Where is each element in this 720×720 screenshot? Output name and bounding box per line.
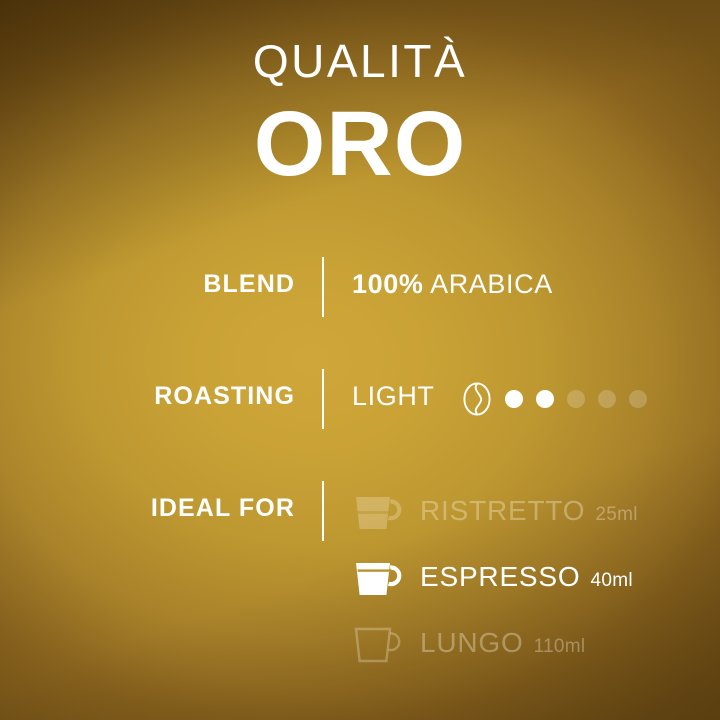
coffee-bean-icon [462, 382, 492, 416]
ideal-for-text-ristretto: RISTRETTO 25ml [420, 495, 638, 527]
spec-label-blend: BLEND [203, 270, 295, 299]
row-divider-ideal-for [322, 481, 324, 541]
ideal-for-name-espresso: ESPRESSO [420, 561, 580, 593]
brand-name: ORO [0, 98, 720, 190]
coffee-cup-icon [352, 621, 404, 665]
blend-bean-type: ARABICA [430, 269, 553, 299]
ideal-for-volume-lungo: 110ml [534, 636, 586, 658]
spec-value-blend: 100% ARABICA [352, 269, 553, 300]
roast-strength-meter [462, 382, 647, 416]
product-spec-card: QUALITÀ ORO BLEND 100% ARABICA ROASTING … [0, 0, 720, 720]
row-divider-blend [322, 257, 324, 317]
spec-value-roasting: LIGHT [352, 381, 435, 412]
ideal-for-name-ristretto: RISTRETTO [420, 495, 585, 527]
ideal-for-item-lungo[interactable]: LUNGO 110ml [352, 610, 682, 676]
ideal-for-text-lungo: LUNGO 110ml [420, 627, 585, 659]
ideal-for-volume-ristretto: 25ml [595, 504, 637, 526]
roast-dot-4 [598, 390, 616, 408]
ideal-for-item-espresso[interactable]: ESPRESSO 40ml [352, 544, 682, 610]
ideal-for-list: RISTRETTO 25ml ESPRESSO 40ml [352, 478, 682, 676]
ideal-for-volume-espresso: 40ml [590, 570, 632, 592]
roast-dot-3 [567, 390, 585, 408]
brand-title-block: QUALITÀ ORO [0, 38, 720, 190]
brand-subtitle: QUALITÀ [0, 38, 720, 84]
spec-label-ideal-for: IDEAL FOR [151, 494, 295, 523]
coffee-cup-icon [352, 489, 404, 533]
roast-dot-1 [505, 390, 523, 408]
roast-dot-5 [629, 390, 647, 408]
coffee-cup-icon [352, 555, 404, 599]
ideal-for-item-ristretto[interactable]: RISTRETTO 25ml [352, 478, 682, 544]
ideal-for-text-espresso: ESPRESSO 40ml [420, 561, 633, 593]
blend-percentage: 100% [352, 269, 423, 299]
ideal-for-name-lungo: LUNGO [420, 627, 524, 659]
spec-label-roasting: ROASTING [154, 382, 295, 411]
row-divider-roasting [322, 369, 324, 429]
roast-dot-2 [536, 390, 554, 408]
